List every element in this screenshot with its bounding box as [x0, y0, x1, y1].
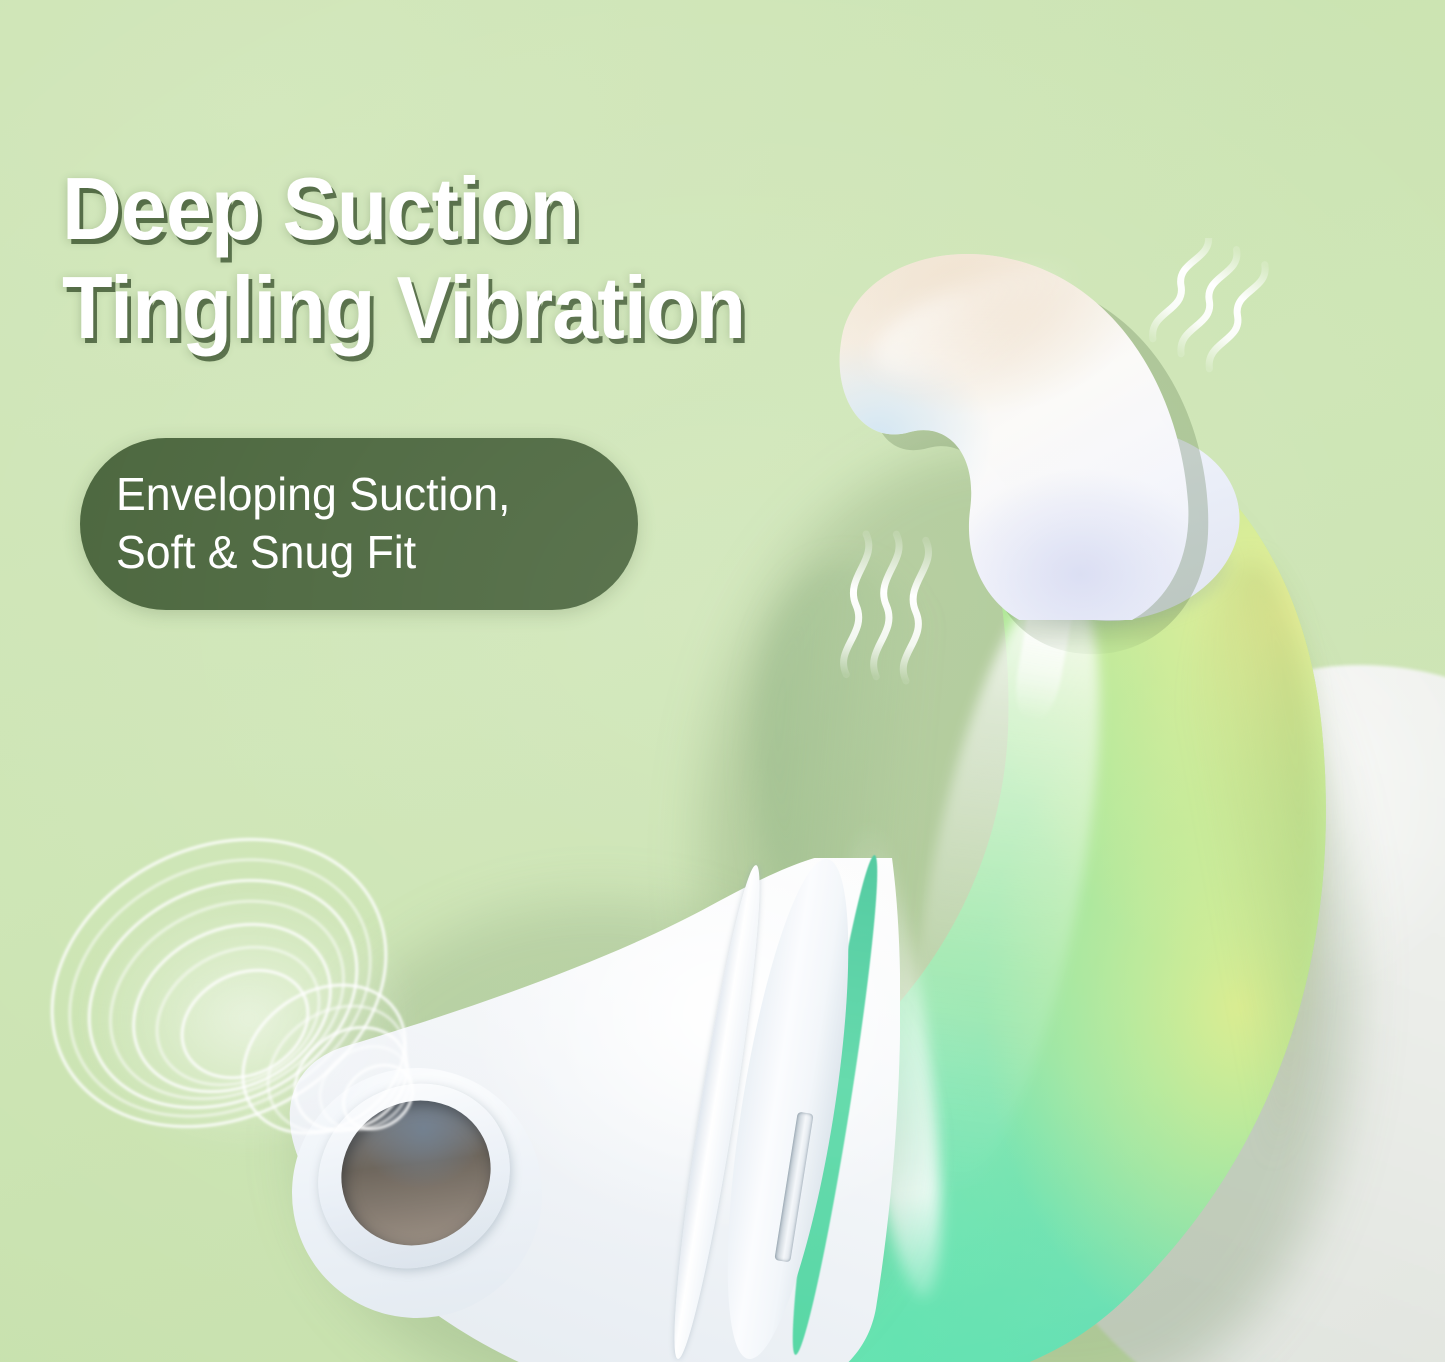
page-title: Deep Suction Tingling Vibration [62, 160, 833, 357]
feature-badge-line-1: Enveloping Suction, [116, 466, 584, 524]
suction-swirl-icon [40, 840, 500, 1200]
vibration-wave-icon-top [1140, 238, 1280, 378]
feature-badge-line-2: Soft & Snug Fit [116, 524, 584, 582]
product-body-rim-shading [1180, 560, 1320, 1180]
feature-badge: Enveloping Suction, Soft & Snug Fit [80, 438, 638, 610]
product-hero-banner: Deep Suction Tingling Vibration Envelopi… [0, 0, 1445, 1362]
vibration-wave-icon-mid [820, 528, 960, 688]
